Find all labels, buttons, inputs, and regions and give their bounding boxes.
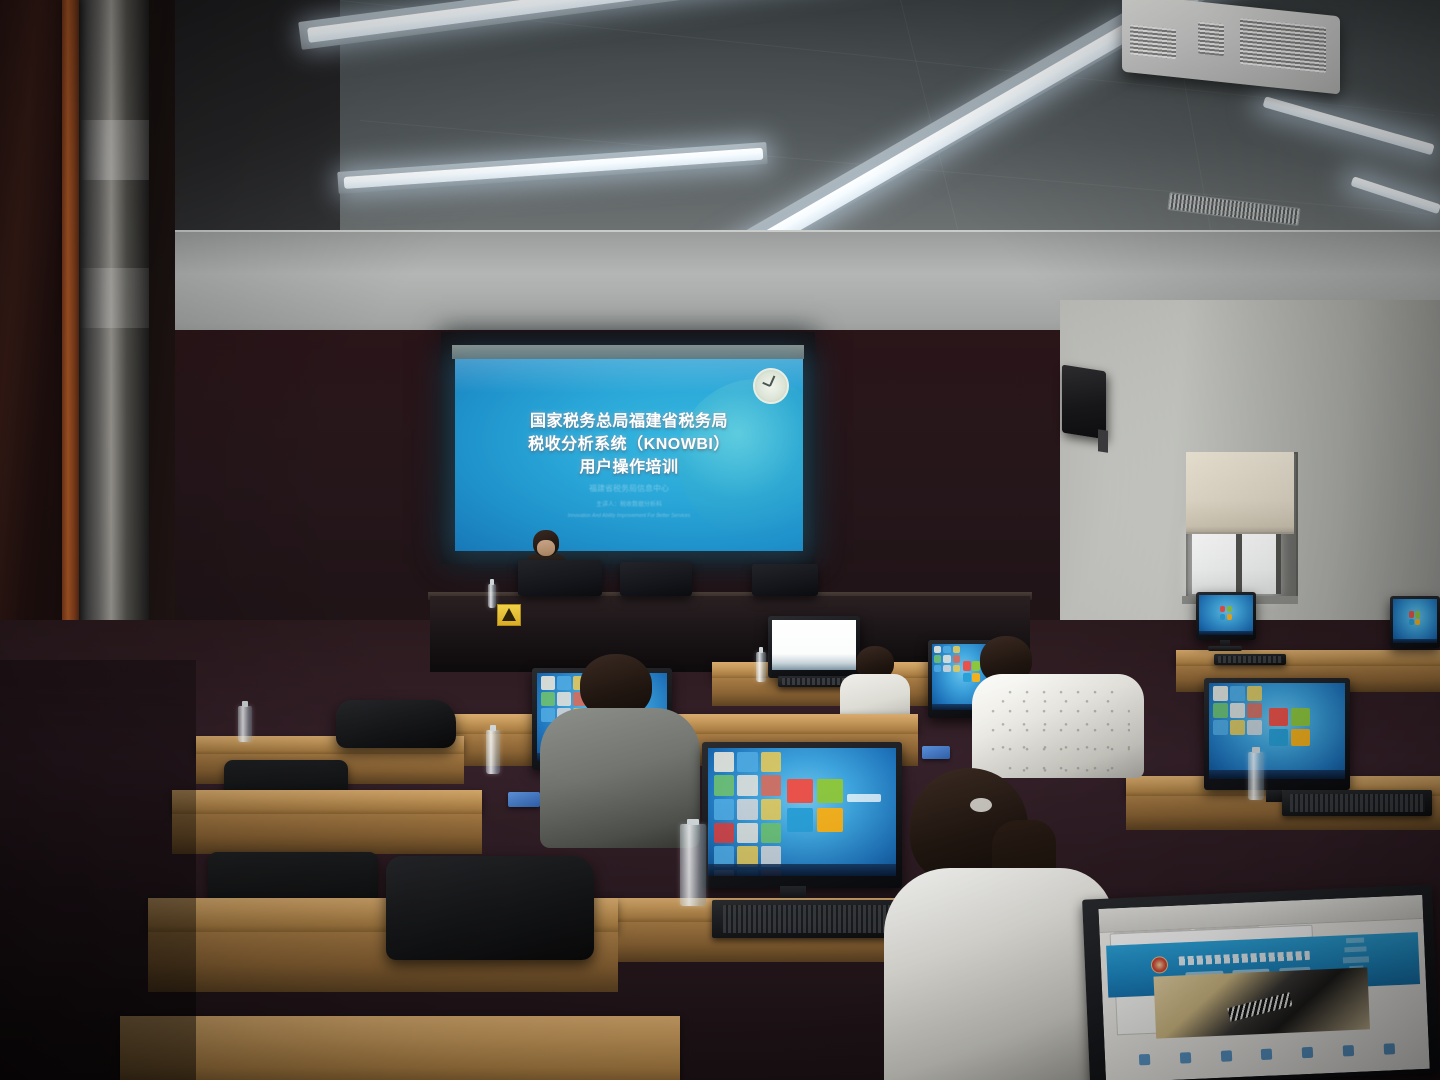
service-icon[interactable] [1302,1047,1313,1058]
monitor-stand [1266,790,1282,802]
slide-subtitle-line2: 主讲人：税收数据分析科 [455,499,803,508]
water-bottle [238,706,252,742]
water-bottle [680,824,706,906]
slide-title-line1: 国家税务总局福建省税务局 [455,407,803,431]
presenter-monitor-2 [620,562,692,596]
presenter-monitor-3 [752,564,818,596]
student-monitor-far-right [1390,596,1440,648]
window-pane [1192,532,1236,594]
mobile-phone [922,746,950,759]
student-grey-shirt [540,654,700,844]
caution-sign [497,604,521,626]
student-monitor-right-rear [1196,592,1256,640]
service-icon[interactable] [1180,1052,1191,1063]
desktop-icons [934,646,960,703]
student-desk-front [172,814,482,854]
window-pane [1242,532,1276,594]
service-icon-row[interactable] [1124,1035,1410,1074]
keyboard-banner-photo [1153,967,1369,1039]
student-white-dotted [972,636,1144,776]
presenter-monitor-1 [518,560,602,596]
student-desk [120,1016,680,1080]
student-white-tee [840,646,910,720]
service-icon[interactable] [1221,1050,1232,1061]
student-monitor-foreground [702,742,902,888]
metal-highlight [79,120,149,180]
monitor-screen [1209,683,1345,779]
metal-column [79,0,149,700]
wall-speaker [1062,365,1106,440]
student-monitor-right-mid [1204,678,1350,790]
keyboard [1214,654,1286,665]
desktop-icons [714,752,782,862]
student-desk [172,790,482,814]
mobile-phone [508,792,540,807]
site-title-text [1179,951,1310,966]
slide-title-line3: 用户操作培训 [455,453,803,477]
projection-screen: 国家税务总局福建省税务局 税收分析系统（KNOWBI） 用户操作培训 福建省税务… [455,359,803,551]
water-bottle [486,730,500,774]
window-blind [1186,452,1294,534]
water-bottle [756,652,766,682]
water-bottle [488,584,496,608]
service-icon[interactable] [1261,1048,1272,1059]
student-monitor-browser[interactable] [1082,884,1440,1080]
speaker-bracket [1098,429,1108,453]
window-mullion [1276,532,1281,594]
monitor-screen [708,748,896,876]
service-icon[interactable] [1139,1054,1150,1065]
service-icon[interactable] [1343,1045,1354,1056]
browser-window[interactable] [1098,895,1429,1080]
window-mullion [1236,532,1242,594]
water-bottle [1248,752,1264,800]
slide-title-line2: 税收分析系统（KNOWBI） [455,430,803,454]
keyboard [1282,790,1432,816]
monitor-base [1208,646,1242,651]
metal-highlight [79,268,149,328]
classroom-photo: 国家税务总局福建省税务局 税收分析系统（KNOWBI） 用户操作培训 福建省税务… [0,0,1440,1080]
laptop-bag [336,700,456,748]
slide-subtitle-line3: Innovation And Ability Improvement For B… [455,513,803,519]
laptop-bag [386,856,594,960]
national-emblem-icon [1151,956,1169,974]
screen-glow [455,359,803,393]
monitor-screen [1199,595,1253,635]
service-icon[interactable] [1383,1043,1394,1054]
clock-graphic [753,368,789,404]
monitor-screen [1393,599,1437,643]
slide-subtitle-line1: 福建省税务局信息中心 [455,483,803,494]
student-woman-ponytail [884,768,1114,1080]
hair-tie [970,798,992,812]
projection-screen-housing [452,345,804,359]
floor-shadow [0,660,196,1080]
